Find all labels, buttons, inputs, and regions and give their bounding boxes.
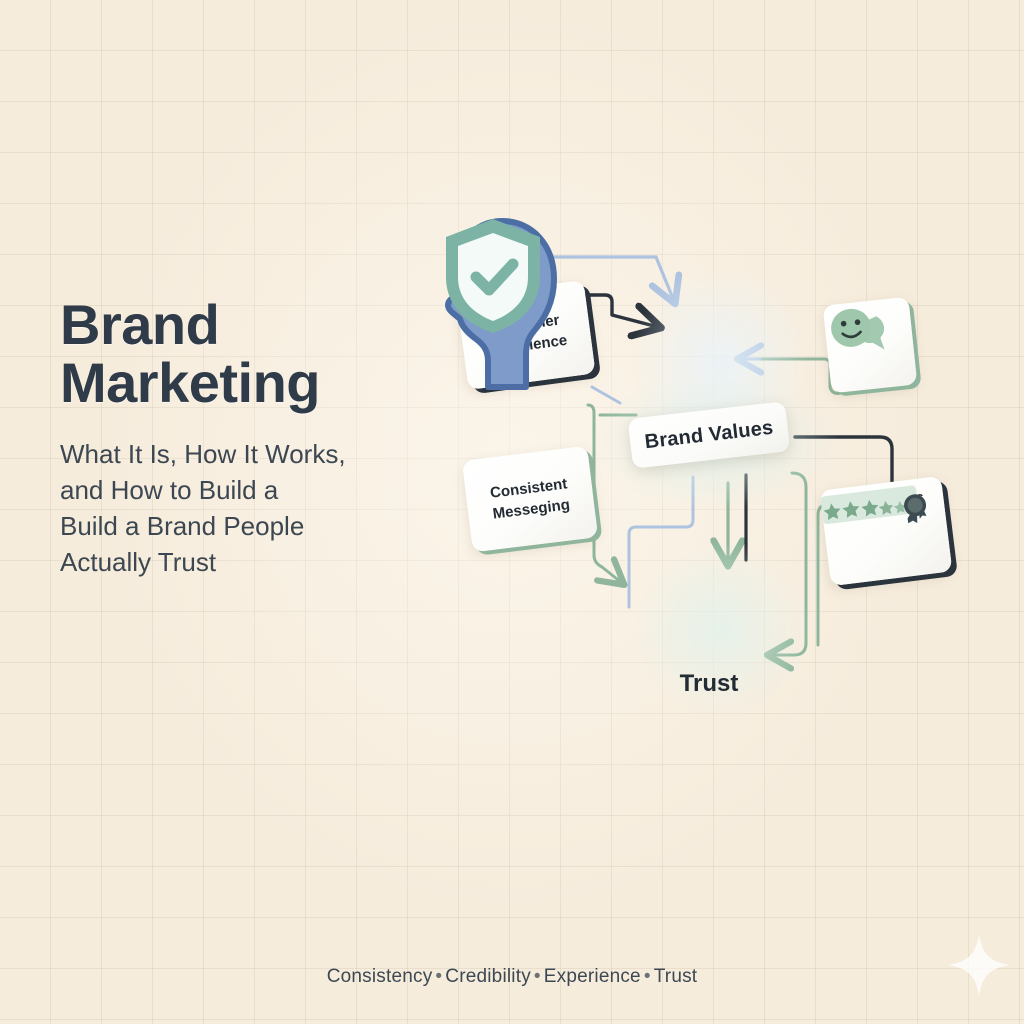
connector-brandvalues-to-proofpoints — [795, 437, 892, 483]
connector-brandvalues-to-trust-blue — [629, 477, 693, 607]
node-proof-points[interactable]: Proof Points — [820, 476, 953, 586]
hero-text-block: Brand Marketing What It Is, How It Works… — [60, 296, 460, 580]
connector-sentiment-to-brandvalues — [740, 359, 840, 393]
poster-canvas: Brand Marketing What It Is, How It Works… — [0, 0, 1024, 1024]
footer-item-credibility: Credibility — [445, 966, 531, 987]
subtitle-line-1: What It Is, How It Works, — [60, 439, 346, 469]
connector-proofpoints-to-trust — [770, 473, 806, 655]
smiley-chat-bubble-icon — [823, 299, 895, 368]
page-subtitle: What It Is, How It Works, and How to Bui… — [60, 436, 460, 580]
brand-trust-diagram: Trust Brand Values Customer Experience C… — [440, 215, 1024, 745]
sparkle-star-icon — [944, 930, 1014, 1000]
footer-item-trust: Trust — [654, 966, 698, 987]
connector-cx-to-brandvalues-lower — [592, 387, 620, 403]
shield-check-icon — [440, 215, 546, 337]
node-customer-sentiment[interactable] — [823, 297, 918, 394]
node-consistent-messaging[interactable]: Consistent Messeging — [462, 446, 598, 553]
footer-tagline: Consistency•Credibility•Experience•Trust — [0, 966, 1024, 988]
connector-consistency-to-trust — [588, 405, 622, 583]
footer-separator-2: • — [531, 966, 544, 987]
title-line-2: Marketing — [60, 351, 320, 414]
page-title: Brand Marketing — [60, 296, 460, 412]
node-consistent-messaging-label: Consistent Messeging — [489, 473, 571, 524]
subtitle-line-2: and How to Build a — [60, 475, 278, 505]
trust-label: Trust — [634, 670, 784, 698]
subtitle-line-4: Actually Trust — [60, 547, 216, 577]
node-brand-values-label: Brand Values — [644, 416, 775, 453]
subtitle-line-3: Build a Brand People — [60, 511, 304, 541]
footer-item-consistency: Consistency — [327, 966, 433, 987]
footer-separator-1: • — [432, 966, 445, 987]
title-line-1: Brand — [60, 293, 219, 356]
footer-separator-3: • — [641, 966, 654, 987]
footer-item-experience: Experience — [544, 966, 641, 987]
